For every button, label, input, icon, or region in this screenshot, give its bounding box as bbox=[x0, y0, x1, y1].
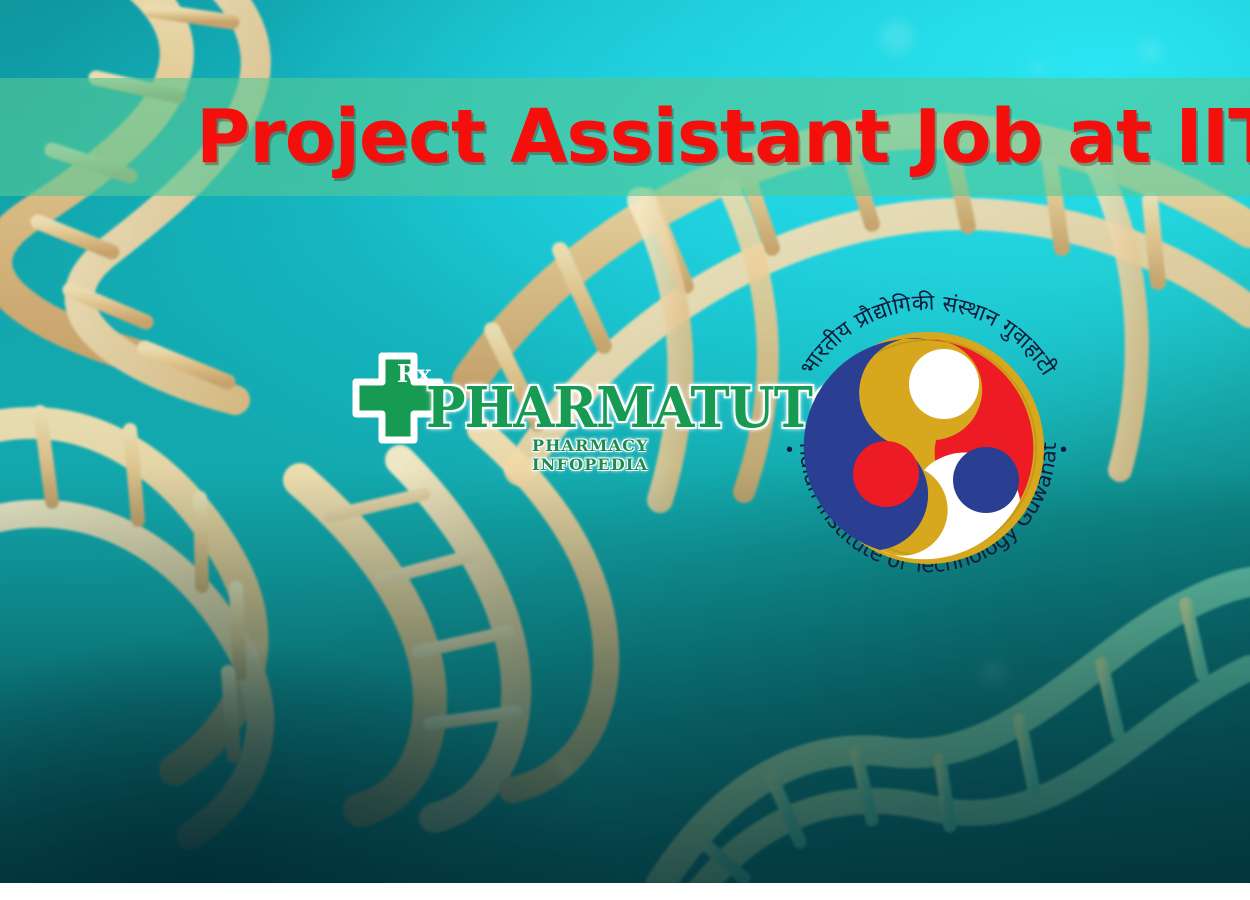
bokeh-particle bbox=[250, 640, 268, 658]
bokeh-particle bbox=[980, 660, 1006, 686]
bottom-white-strip bbox=[0, 883, 1250, 900]
red-dot bbox=[853, 441, 919, 507]
iit-bullet-left: • bbox=[786, 439, 793, 461]
pharmatutor-tagline: PHARMACY INFOPEDIA bbox=[532, 436, 697, 474]
bokeh-particle bbox=[1140, 40, 1162, 62]
poster-title: Project Assistant Job at IIT bbox=[0, 78, 1250, 196]
iit-guwahati-logo: भारतीय प्रौद्योगिकी संस्थान गुवाहाटी Ind… bbox=[772, 288, 1084, 600]
background-depth-shade-left bbox=[0, 486, 775, 900]
blue-dot bbox=[953, 447, 1019, 513]
bokeh-particle bbox=[120, 520, 132, 532]
iit-bullet-right: • bbox=[1060, 439, 1067, 461]
poster-canvas: Project Assistant Job at IIT Rx PHARMATU… bbox=[0, 0, 1250, 900]
white-dot bbox=[909, 349, 979, 419]
bokeh-particle bbox=[880, 20, 914, 54]
bokeh-particle bbox=[560, 760, 574, 774]
bokeh-particle bbox=[1030, 60, 1046, 76]
pharmatutor-logo: Rx PHARMATUTOR PHARMACY INFOPEDIA bbox=[352, 352, 697, 467]
